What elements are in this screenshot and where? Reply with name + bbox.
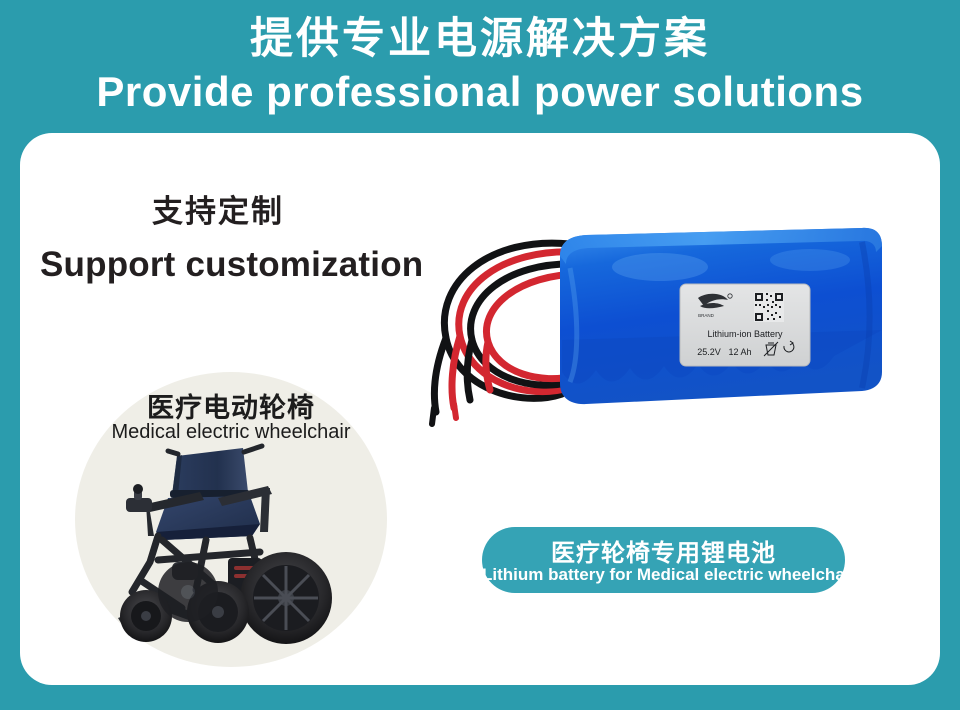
- battery-label: BRAND Lithium-ion Battery 25.2V: [680, 284, 810, 366]
- header-title-en: Provide professional power solutions: [0, 68, 960, 116]
- lithium-battery-pack-image: BRAND Lithium-ion Battery 25.2V: [410, 222, 890, 437]
- application-title-cn: 医疗电动轮椅: [75, 386, 387, 425]
- battery-label-capacity: 12 Ah: [728, 347, 751, 357]
- banner-header: 提供专业电源解决方案 Provide professional power so…: [0, 0, 960, 133]
- svg-text:BRAND: BRAND: [698, 313, 715, 318]
- battery-label-voltage: 25.2V: [697, 347, 721, 357]
- header-title-cn: 提供专业电源解决方案: [0, 14, 960, 64]
- wheelchair-secondary-wheel: [158, 562, 218, 622]
- application-badge-en: Lithium battery for Medical electric whe…: [482, 565, 845, 585]
- qr-code: [754, 292, 784, 322]
- electric-wheelchair-image: [110, 440, 360, 655]
- application-badge-cn: 医疗轮椅专用锂电池: [482, 533, 845, 568]
- battery-wires: [432, 243, 582, 424]
- wheelchair-rear-wheel: [240, 552, 332, 644]
- product-banner: 提供专业电源解决方案 Provide professional power so…: [0, 0, 960, 710]
- headline-cn: 支持定制: [152, 186, 284, 231]
- battery-label-product-name: Lithium-ion Battery: [707, 329, 783, 339]
- wheelchair-backrest: [170, 448, 250, 498]
- headline-en: Support customization: [40, 245, 423, 285]
- wheelchair-joystick: [126, 484, 152, 512]
